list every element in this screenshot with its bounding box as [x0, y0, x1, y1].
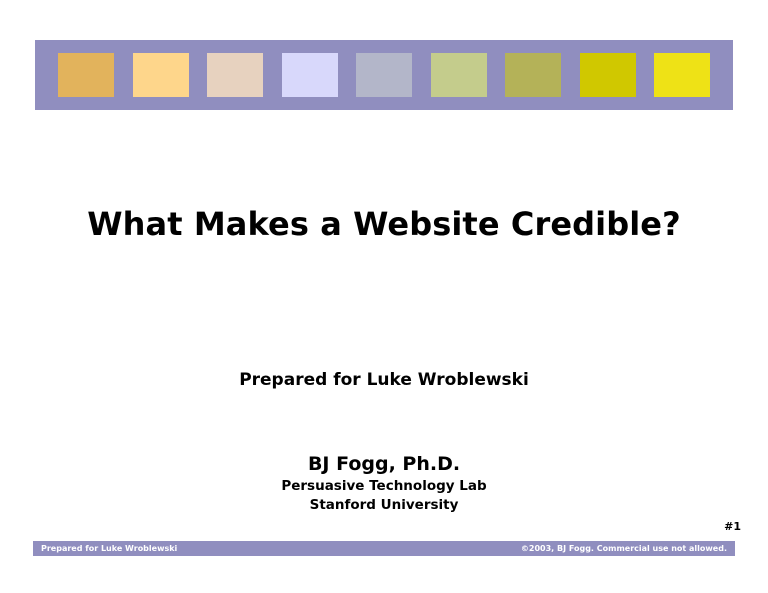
footer-prepared-for: Prepared for Luke Wroblewski — [41, 544, 177, 553]
footer-bar: Prepared for Luke Wroblewski ©2003, BJ F… — [33, 541, 735, 556]
slide-title: What Makes a Website Credible? — [0, 204, 768, 244]
color-swatch-8 — [580, 53, 636, 97]
color-swatch-2 — [133, 53, 189, 97]
author-block: BJ Fogg, Ph.D. Persuasive Technology Lab… — [0, 452, 768, 515]
footer-copyright: ©2003, BJ Fogg. Commercial use not allow… — [521, 544, 727, 553]
color-swatch-3 — [207, 53, 263, 97]
color-swatch-6 — [431, 53, 487, 97]
page-number: #1 — [724, 520, 741, 533]
author-organization: Stanford University — [0, 496, 768, 515]
color-swatch-1 — [58, 53, 114, 97]
prepared-for-line: Prepared for Luke Wroblewski — [0, 369, 768, 391]
presentation-slide: What Makes a Website Credible? Prepared … — [0, 0, 768, 593]
color-swatch-9 — [654, 53, 710, 97]
author-lab: Persuasive Technology Lab — [0, 477, 768, 496]
color-swatch-5 — [356, 53, 412, 97]
color-swatch-4 — [282, 53, 338, 97]
author-name: BJ Fogg, Ph.D. — [0, 452, 768, 477]
header-decorative-band — [35, 40, 733, 110]
color-swatch-strip — [35, 40, 733, 110]
color-swatch-7 — [505, 53, 561, 97]
